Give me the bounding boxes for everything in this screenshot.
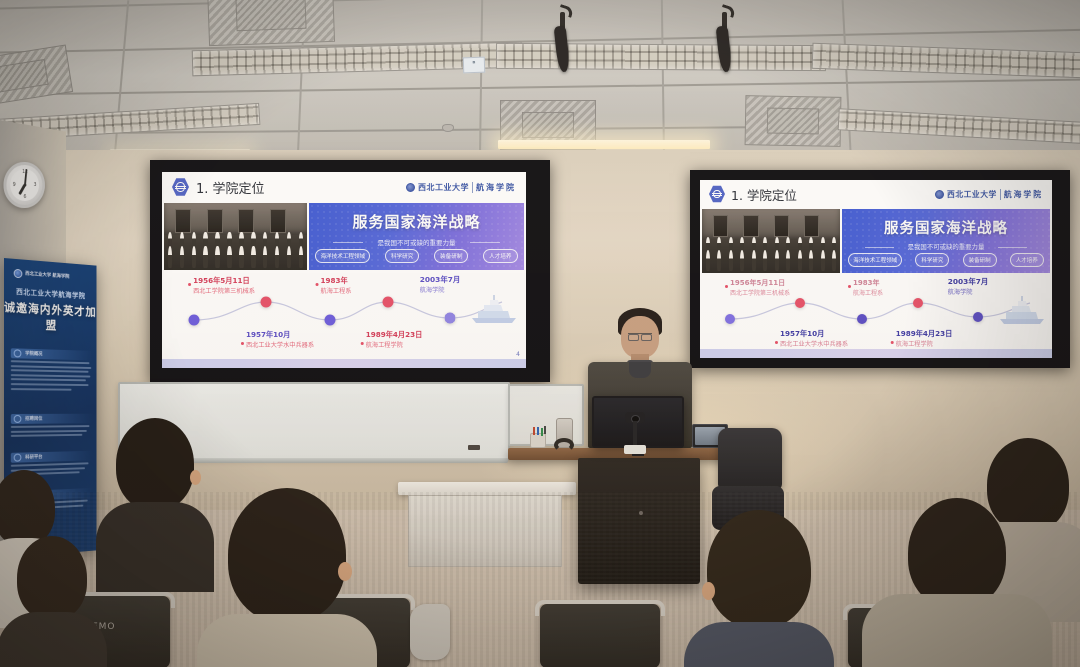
document-camera-base [624,445,646,454]
timeline-desc: 航海学院 [948,287,989,296]
banner-pill: 科学研究 [385,249,419,263]
strip-light [498,140,710,149]
glasses-icon [628,333,652,338]
left-projection-screen: 1. 学院定位 西北工业大学 航海学院 [150,160,550,382]
timeline-desc: 航海学院 [420,285,461,294]
ship-illustration [468,294,520,324]
timeline-date: 1983年 [853,278,883,288]
slide-header: 1. 学院定位 西北工业大学 航海学院 [700,180,1052,208]
logo-divider [472,182,473,193]
attendee-body [197,614,377,667]
smoke-detector-icon [442,124,454,132]
banner-subhead: 是我国不可或缺的重要力量 [842,242,1050,251]
timeline-date: 1957年10月 [780,329,848,339]
attendee-head [17,536,87,620]
timeline-desc: 西北工学院第三机械系 [193,286,255,295]
timeline-desc: 航海工程学院 [366,340,423,349]
slide-title: 1. 学院定位 [196,178,265,197]
attendee-front-far-left [4,536,100,667]
timeline-label: 1983年 航海工程系 [853,278,883,297]
chair-seatback[interactable] [540,604,660,667]
timeline-label: 1957年10月 西北工业大学水中兵器系 [246,330,314,349]
attendee-head [116,418,194,510]
chair-rim [535,600,665,616]
recessed-light-grid [496,43,826,71]
ceiling: ▩ [0,0,1080,168]
timeline-node [383,297,394,308]
banner-pill-row: 海洋技术工程领域 科学研究 装备研制 人才培养 [848,253,1044,267]
banner-subhead: 是我国不可或缺的重要力量 [309,237,524,247]
attendee-head [908,498,1006,608]
logo-school-name: 航海学院 [476,182,516,193]
attendee-body [862,594,1052,667]
timeline-node [325,315,336,326]
recessed-light-grid [838,108,1080,146]
attendee-head [0,470,55,546]
timeline-date: 1956年5月11日 [730,278,790,288]
banner-pill: 海洋技术工程领域 [315,249,370,263]
presenter-collar [629,362,651,378]
attendee-front-right [872,498,1042,667]
attendee-body [96,502,214,592]
timeline-node [913,298,923,308]
timeline-node [857,314,867,324]
timeline-date: 1983年 [321,276,352,286]
timeline-desc: 航海工程学院 [896,339,953,348]
logo-school-name: 航海学院 [1004,189,1043,200]
slide-banner: 服务国家海洋战略 是我国不可或缺的重要力量 海洋技术工程领域 科学研究 装备研制… [842,209,1050,273]
headset[interactable] [554,438,574,452]
poster-section: 招聘岗位 [11,414,92,440]
attendee-ear [338,562,352,581]
timeline-label: 2003年7月 航海学院 [420,274,461,294]
timeline-label: 1989年4月23日 航海工程学院 [896,329,953,348]
timeline-label: 2003年7月 航海学院 [948,276,989,296]
clock-numeral: 6 [24,194,27,200]
timeline-desc: 西北工学院第三机械系 [730,288,790,297]
history-timeline: 1956年5月11日 西北工学院第三机械系 1983年 航海工程系 2003年7… [162,272,526,358]
timeline-label: 1957年10月 西北工业大学水中兵器系 [780,329,848,348]
timeline-date: 1989年4月23日 [896,329,953,339]
poster-headline: 诚邀海内外英才加盟 [4,299,96,335]
timeline-desc: 航海工程系 [321,286,352,295]
timeline-desc: 航海工程系 [853,288,883,297]
pen-holder [530,433,546,448]
banner-pill: 科学研究 [915,253,949,267]
banner-pill: 人才培养 [1010,253,1044,267]
attendee-ear [190,470,201,485]
timeline-label: 1956年5月11日 西北工学院第三机械系 [730,278,790,297]
attendee-back-left [100,418,210,578]
chair-backrest [718,428,782,490]
poster-logo-text: 西北工业大学 航海学院 [25,271,69,280]
poster-section: 学院概况 [11,348,92,393]
hexagon-layers-icon [709,185,725,203]
timeline-desc: 西北工业大学水中兵器系 [246,340,314,349]
poster-section-body [11,360,92,390]
slide-title: 1. 学院定位 [731,185,797,204]
slide-page-number: 4 [516,351,520,358]
timeline-date: 2003年7月 [420,274,461,285]
seal-icon [935,190,944,199]
banner-pill: 人才培养 [483,249,517,263]
poster-section-number [14,454,22,462]
university-logo: 西北工业大学 航海学院 [406,182,516,193]
slide-left: 1. 学院定位 西北工业大学 航海学院 [162,172,526,368]
slide-footer-bar [162,359,526,368]
clock-numeral: 9 [13,182,16,188]
poster-section-title: 科研平台 [25,454,42,460]
attendee-ear [702,582,715,600]
timeline-node [795,298,805,308]
whiteboard-marker [468,445,480,450]
logo-divider [1000,189,1001,200]
timeline-date: 1989年4月23日 [366,330,423,340]
seal-icon [14,268,23,278]
historical-group-photo [702,209,840,273]
hexagon-layers-icon [172,178,189,197]
document-camera[interactable] [625,412,649,456]
poster-section-title: 学院概况 [25,351,42,357]
timeline-date: 1957年10月 [246,330,314,340]
timeline-label: 1983年 航海工程系 [321,276,352,295]
poster-logo: 西北工业大学 航海学院 [14,268,70,281]
attendee-head [707,510,811,628]
history-timeline: 1956年5月11日 西北工学院第三机械系 1983年 航海工程系 2003年7… [700,275,1052,355]
timeline-label: 1989年4月23日 航海工程学院 [366,330,423,349]
attendee-front-left [212,488,362,667]
timeline-date: 1956年5月11日 [193,276,255,286]
timeline-node [973,312,983,322]
document-camera-arm [633,421,637,447]
chair-armrest [410,604,450,660]
poster-section-number [14,415,22,423]
slide-footer-bar [700,349,1052,358]
ship-illustration [996,295,1048,325]
historical-group-photo [164,203,307,270]
hvac-diffuser [207,0,335,46]
attendee-front-center [694,510,824,667]
slide-banner: 服务国家海洋战略 是我国不可或缺的重要力量 海洋技术工程领域 科学研究 装备研制… [309,203,524,270]
slide-right: 1. 学院定位 西北工业大学 航海学院 [700,180,1052,358]
recessed-light-grid [812,43,1080,79]
logo-university-name: 西北工业大学 [947,189,997,200]
banner-pill-row: 海洋技术工程领域 科学研究 装备研制 人才培养 [315,249,517,263]
ceiling-sign: ▩ [463,57,486,74]
slide-header: 1. 学院定位 西北工业大学 航海学院 [162,172,526,202]
timeline-node [261,297,272,308]
clock-center-pin [24,183,27,186]
right-projection-screen: 1. 学院定位 西北工业大学 航海学院 [690,170,1070,368]
timeline-label: 1956年5月11日 西北工学院第三机械系 [193,276,255,295]
poster-section-number [14,349,22,357]
timeline-node [445,313,456,324]
attendee-head [228,488,346,622]
timeline-node [189,315,200,326]
seal-icon [406,183,415,192]
banner-pill: 海洋技术工程领域 [848,253,902,267]
timeline-date: 2003年7月 [948,276,989,287]
banner-pill: 装备研制 [963,253,997,267]
timeline-desc: 西北工业大学水中兵器系 [780,339,848,348]
hvac-diffuser [0,44,73,107]
attendee-body [0,612,107,667]
university-logo: 西北工业大学 航海学院 [935,189,1043,200]
clock-numeral: 3 [34,182,37,188]
attendee-body [684,622,834,667]
hvac-diffuser [745,95,842,147]
logo-university-name: 西北工业大学 [418,182,469,193]
lecture-hall-scene: ▩ 12 3 6 9 1. 学院定位 西北工业大学 航海学院 [0,0,1080,667]
clock-face: 12 3 6 9 [10,169,39,202]
banner-pill: 装备研制 [434,249,468,263]
poster-section-title: 招聘岗位 [25,416,42,422]
poster-section-body [11,425,92,437]
timeline-node [725,314,735,324]
